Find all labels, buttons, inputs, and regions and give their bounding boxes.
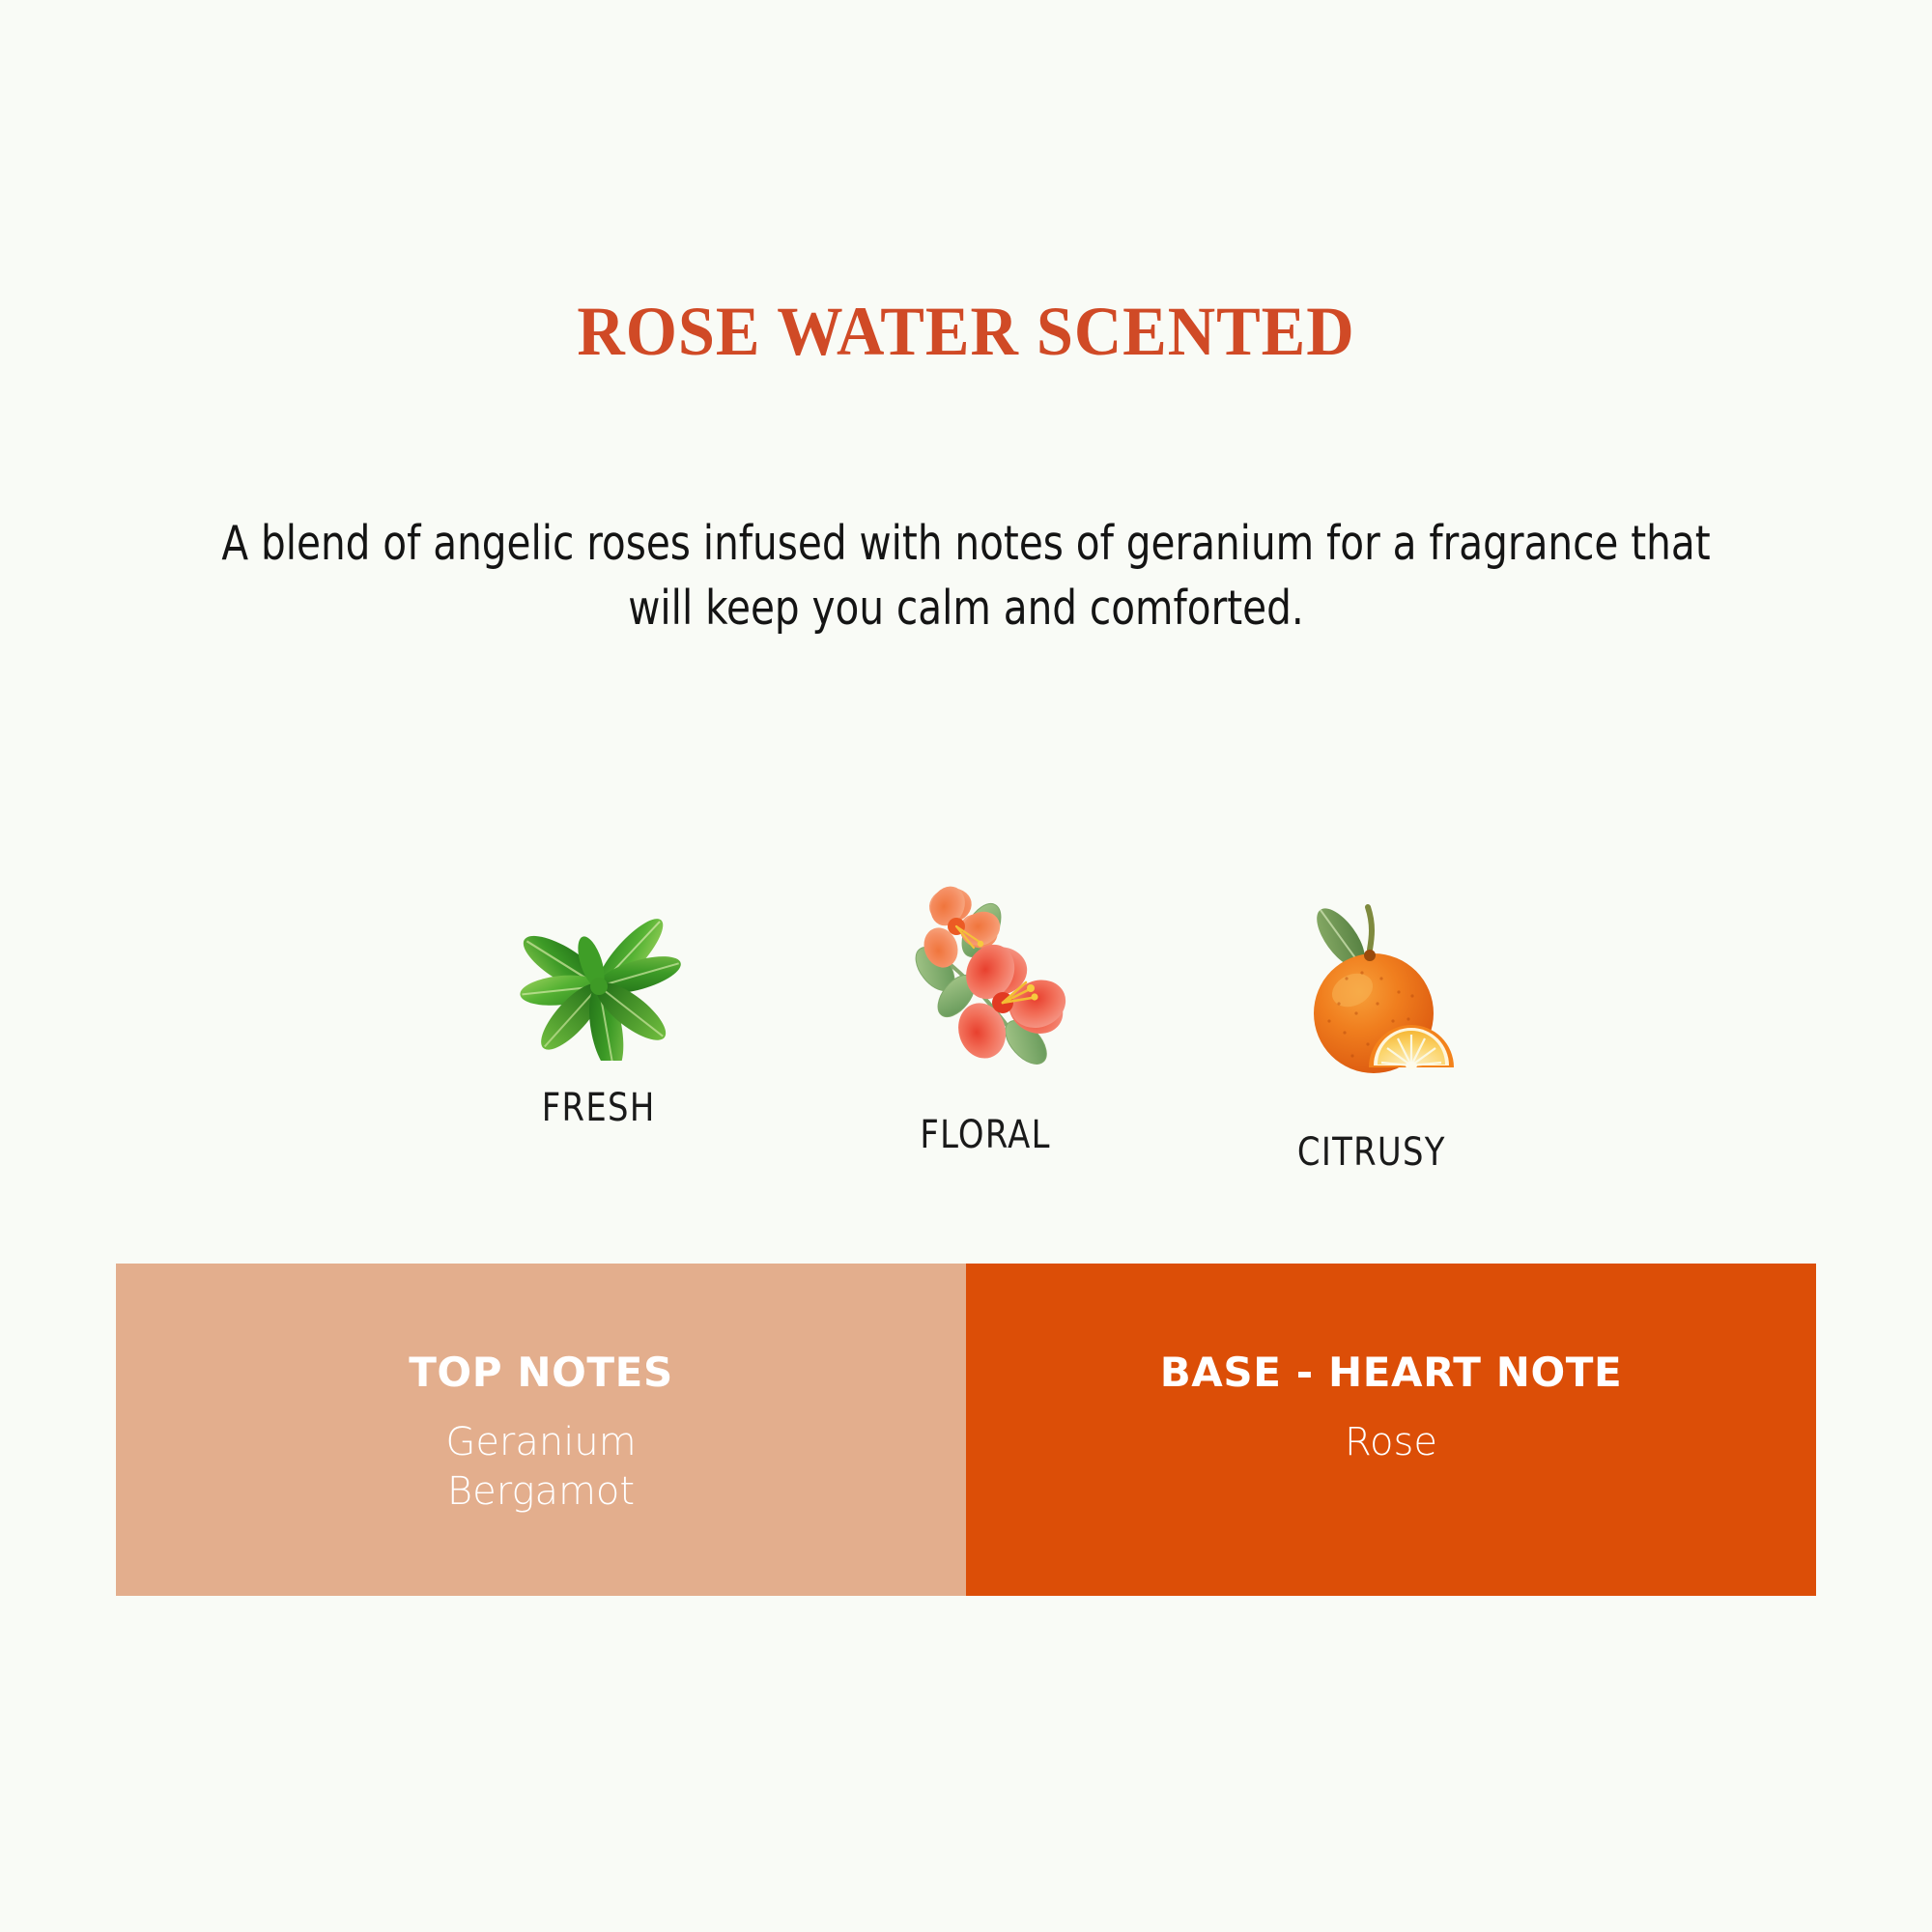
scent-profile-label-fresh: FRESH bbox=[542, 1086, 656, 1130]
top-notes-item: Bergamot bbox=[445, 1467, 636, 1517]
base-heart-note-panel: BASE - HEART NOTE Rose bbox=[966, 1264, 1816, 1596]
scent-profile-label-citrusy: CITRUSY bbox=[1297, 1130, 1446, 1175]
page-title: ROSE WATER SCENTED bbox=[48, 296, 1884, 369]
base-heart-note-list: Rose bbox=[1345, 1418, 1437, 1467]
scent-profile-item-floral: FLORAL bbox=[792, 904, 1179, 1157]
top-notes-panel: TOP NOTES Geranium Bergamot bbox=[116, 1264, 966, 1596]
hibiscus-flowers-icon bbox=[898, 904, 1072, 1088]
base-heart-note-heading: BASE - HEART NOTE bbox=[1160, 1352, 1623, 1393]
scent-profile-item-citrusy: CITRUSY bbox=[1179, 922, 1565, 1175]
scent-profile-label-floral: FLORAL bbox=[920, 1113, 1050, 1157]
scent-profile-item-fresh: FRESH bbox=[406, 877, 792, 1130]
top-notes-heading: TOP NOTES bbox=[409, 1352, 673, 1393]
fragrance-notes-panels: TOP NOTES Geranium Bergamot BASE - HEART… bbox=[116, 1264, 1816, 1596]
product-description: A blend of angelic roses infused with no… bbox=[184, 512, 1747, 640]
orange-fruit-icon bbox=[1285, 922, 1459, 1105]
fragrance-info-card: ROSE WATER SCENTED A blend of angelic ro… bbox=[0, 0, 1932, 1932]
top-notes-item: Geranium bbox=[445, 1418, 636, 1467]
basil-leaves-icon bbox=[512, 877, 686, 1061]
base-heart-note-item: Rose bbox=[1345, 1418, 1437, 1467]
top-notes-list: Geranium Bergamot bbox=[445, 1418, 636, 1517]
scent-profile-row: FRESH bbox=[406, 840, 1565, 1130]
